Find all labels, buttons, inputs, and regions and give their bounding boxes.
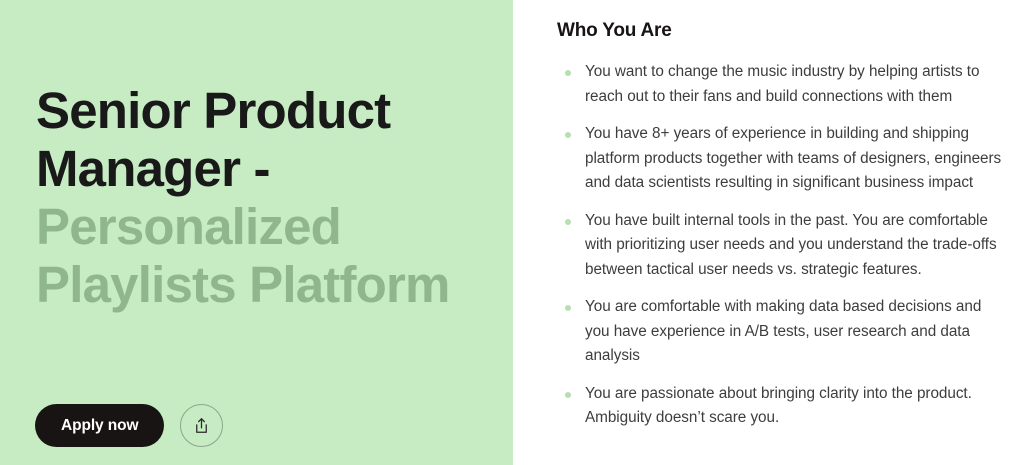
list-item: You are comfortable with making data bas… [557,295,1002,369]
bullet-dot-icon [565,392,571,398]
bullet-dot-icon [565,70,571,76]
job-posting-page: Senior Product Manager - Personalized Pl… [0,0,1024,465]
list-item: You have built internal tools in the pas… [557,209,1002,283]
apply-now-button[interactable]: Apply now [35,404,164,447]
list-item-text: You have 8+ years of experience in build… [585,125,1001,191]
job-title: Senior Product Manager - Personalized Pl… [36,82,466,314]
list-item: You have 8+ years of experience in build… [557,122,1002,196]
list-item-text: You are passionate about bringing clarit… [585,385,972,427]
bullet-dot-icon [565,132,571,138]
list-item: You want to change the music industry by… [557,60,1002,109]
job-title-main: Senior Product Manager - [36,82,390,197]
list-item: You are passionate about bringing clarit… [557,382,1002,431]
list-item-text: You have built internal tools in the pas… [585,212,997,278]
requirements-list: You want to change the music industry by… [557,60,1002,431]
job-title-subtitle: Personalized Playlists Platform [36,198,450,313]
share-button[interactable] [180,404,223,447]
section-heading-who-you-are: Who You Are [557,19,1024,43]
list-item-text: You are comfortable with making data bas… [585,298,981,364]
bullet-dot-icon [565,219,571,225]
hero-action-bar: Apply now [35,404,223,447]
requirements-panel: Who You Are You want to change the music… [513,0,1024,465]
hero-panel: Senior Product Manager - Personalized Pl… [0,0,513,465]
share-upload-icon [192,416,211,435]
list-item-text: You want to change the music industry by… [585,63,979,105]
bullet-dot-icon [565,305,571,311]
